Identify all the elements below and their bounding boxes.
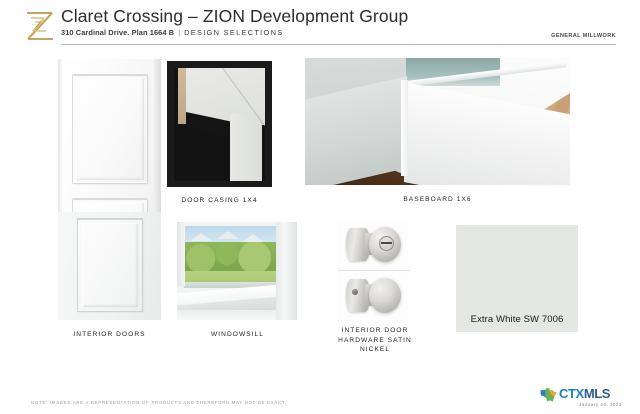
subtitle-separator: | — [174, 28, 184, 37]
subtitle-row: 310 Cardinal Drive. Plan 1664 B|DESIGN S… — [61, 28, 283, 37]
category-label: GENERAL MILLWORK — [551, 33, 616, 39]
ctxmls-brand-ctx: CTX — [559, 386, 584, 401]
casing-vertical-jamb — [230, 114, 262, 181]
page-title: Claret Crossing – ZION Development Group — [61, 6, 408, 27]
door-upper-panel — [73, 75, 147, 183]
doorknob-keyed-cell — [338, 220, 410, 271]
footer-date: January 20, 2023 — [579, 402, 622, 407]
label-door-casing: DOOR CASING 1X4 — [152, 196, 287, 206]
casing-photo-inner — [174, 68, 265, 181]
white-baseboard-wood-floor-photo — [305, 58, 570, 185]
window-right-jamb — [276, 222, 297, 320]
label-windowsill: WINDOWSILL — [180, 330, 295, 340]
texas-state-outline-icon — [539, 387, 558, 403]
ctxmls-wordmark: CTXMLS — [559, 386, 610, 401]
door-detail-panel — [78, 219, 142, 311]
doorknob-release-pin — [352, 289, 358, 295]
baseboard-outside-corner — [401, 80, 408, 176]
rooftop-shape — [190, 233, 212, 241]
label-door-hardware: INTERIOR DOOR HARDWARE SATIN NICKEL — [325, 326, 425, 355]
ctxmls-logo: CTXMLS January 20, 2023 — [539, 386, 623, 410]
page-header: Claret Crossing – ZION Development Group… — [0, 0, 640, 50]
black-door-casing-photo — [167, 61, 272, 187]
rooftop-shape — [217, 231, 239, 239]
windowsill-under-shadow — [177, 310, 285, 320]
paint-swatch-extra-white: Extra White SW 7006 — [456, 225, 578, 332]
ctxmls-brand-mls: MLS — [584, 386, 610, 401]
paint-swatch-caption: Extra White SW 7006 — [456, 314, 578, 325]
label-interior-doors: INTERIOR DOORS — [44, 330, 175, 340]
window-view-hedge — [184, 242, 277, 272]
footer-disclaimer: NOTE: IMAGES ARE A REPRESENTATION OF PRO… — [31, 400, 287, 405]
satin-nickel-doorknob-photo — [338, 220, 410, 321]
label-baseboard: BASEBOARD 1X6 — [370, 195, 505, 205]
doorknob-passage-cell — [338, 271, 410, 321]
project-address: 310 Cardinal Drive. Plan 1664 B — [61, 28, 174, 37]
rooftop-shape — [242, 234, 264, 242]
window-left-jamb — [177, 222, 185, 286]
header-divider — [61, 44, 616, 45]
windowsill-exterior-view-photo — [177, 222, 297, 320]
doorknob-keyhole-icon — [379, 236, 394, 251]
zion-z-logo-icon — [24, 9, 56, 43]
doorknob-ball — [369, 278, 401, 313]
door-lower-panel-photo — [58, 212, 161, 320]
section-label: DESIGN SELECTIONS — [184, 28, 283, 37]
